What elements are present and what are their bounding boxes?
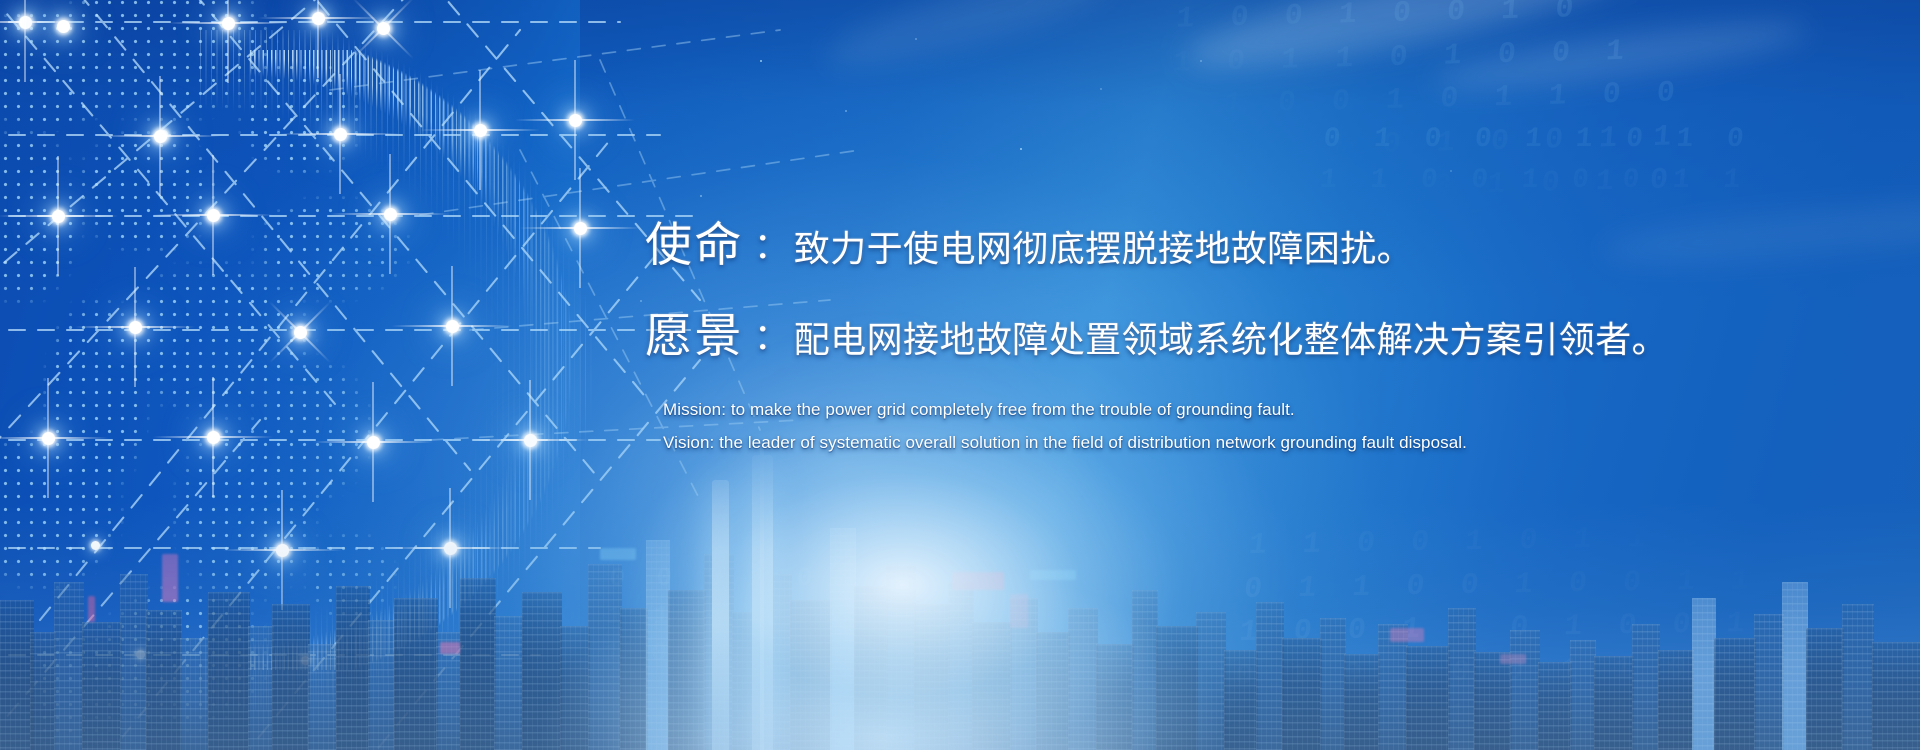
mission-label: 使命 <box>645 206 744 275</box>
vision-text: 配电网接地故障处置领域系统化整体解决方案引领者。 <box>794 311 1668 363</box>
vision-headline: 愿景 ： 配电网接地故障处置领域系统化整体解决方案引领者。 <box>645 297 1905 366</box>
mission-headline: 使命 ： 致力于使电网彻底摆脱接地故障困扰。 <box>645 206 1905 275</box>
mission-colon: ： <box>744 217 794 269</box>
vision-label: 愿景 <box>645 297 744 366</box>
vision-subtitle-en: Vision: the leader of systematic overall… <box>663 427 1905 460</box>
mission-vision-copy: 使命 ： 致力于使电网彻底摆脱接地故障困扰。 愿景 ： 配电网接地故障处置领域系… <box>645 206 1905 459</box>
mission-vision-banner: 1 0 0 1 0 0 1 0 1 0 1 1 0 1 0 0 1 0 1 0 … <box>0 0 1920 750</box>
mission-subtitle-en: Mission: to make the power grid complete… <box>663 394 1905 427</box>
vision-colon: ： <box>744 308 794 360</box>
mission-text: 致力于使电网彻底摆脱接地故障困扰。 <box>794 220 1413 272</box>
